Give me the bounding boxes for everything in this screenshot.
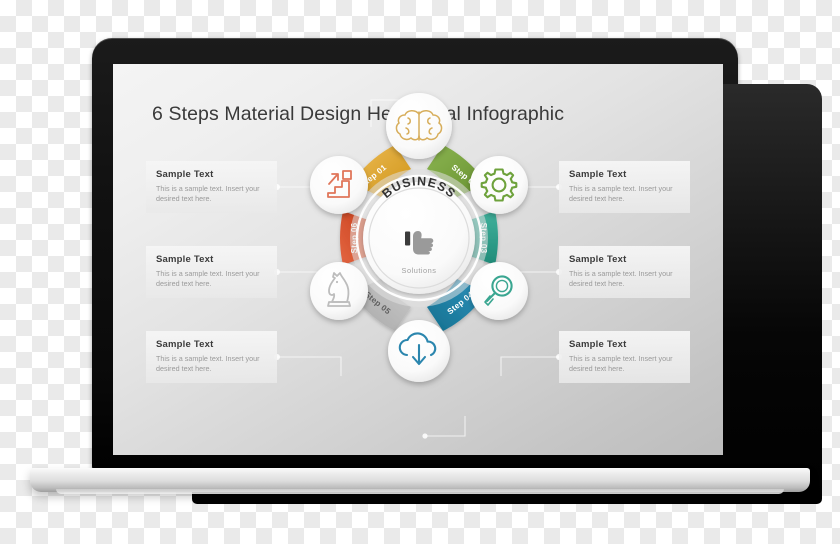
hub[interactable]: BUSINESS Solutions (350, 169, 488, 307)
hexagonal-infographic: Step 01 Step 02 Step 03 Step 04 (299, 83, 539, 435)
card-title: Sample Text (156, 254, 267, 265)
text-card-left-1[interactable]: Sample Text This is a sample text. Inser… (146, 161, 277, 213)
hub-subtitle: Solutions (402, 266, 437, 275)
laptop-base-foot (56, 489, 784, 494)
step-02-icon-circle[interactable] (470, 156, 528, 214)
step-06-icon-circle[interactable] (310, 156, 368, 214)
text-card-right-1[interactable]: Sample Text This is a sample text. Inser… (559, 161, 690, 213)
card-body: This is a sample text. Insert your desir… (569, 184, 680, 205)
card-body: This is a sample text. Insert your desir… (156, 269, 267, 290)
step-05-icon-circle[interactable] (310, 262, 368, 320)
step-03-icon-circle[interactable] (470, 262, 528, 320)
card-body: This is a sample text. Insert your desir… (569, 354, 680, 375)
text-card-right-2[interactable]: Sample Text This is a sample text. Inser… (559, 246, 690, 298)
card-title: Sample Text (569, 339, 680, 350)
card-title: Sample Text (156, 339, 267, 350)
card-title: Sample Text (569, 169, 680, 180)
card-title: Sample Text (569, 254, 680, 265)
step-01-icon-circle[interactable] (386, 93, 452, 159)
text-card-left-3[interactable]: Sample Text This is a sample text. Inser… (146, 331, 277, 383)
text-card-right-3[interactable]: Sample Text This is a sample text. Inser… (559, 331, 690, 383)
text-card-left-2[interactable]: Sample Text This is a sample text. Inser… (146, 246, 277, 298)
laptop-screen: 6 Steps Material Design Hexagonal Infogr… (113, 64, 723, 455)
card-body: This is a sample text. Insert your desir… (156, 184, 267, 205)
card-title: Sample Text (156, 169, 267, 180)
card-body: This is a sample text. Insert your desir… (569, 269, 680, 290)
card-body: This is a sample text. Insert your desir… (156, 354, 267, 375)
step-04-icon-circle[interactable] (388, 320, 450, 382)
laptop-mockup: 6 Steps Material Design Hexagonal Infogr… (0, 0, 840, 544)
